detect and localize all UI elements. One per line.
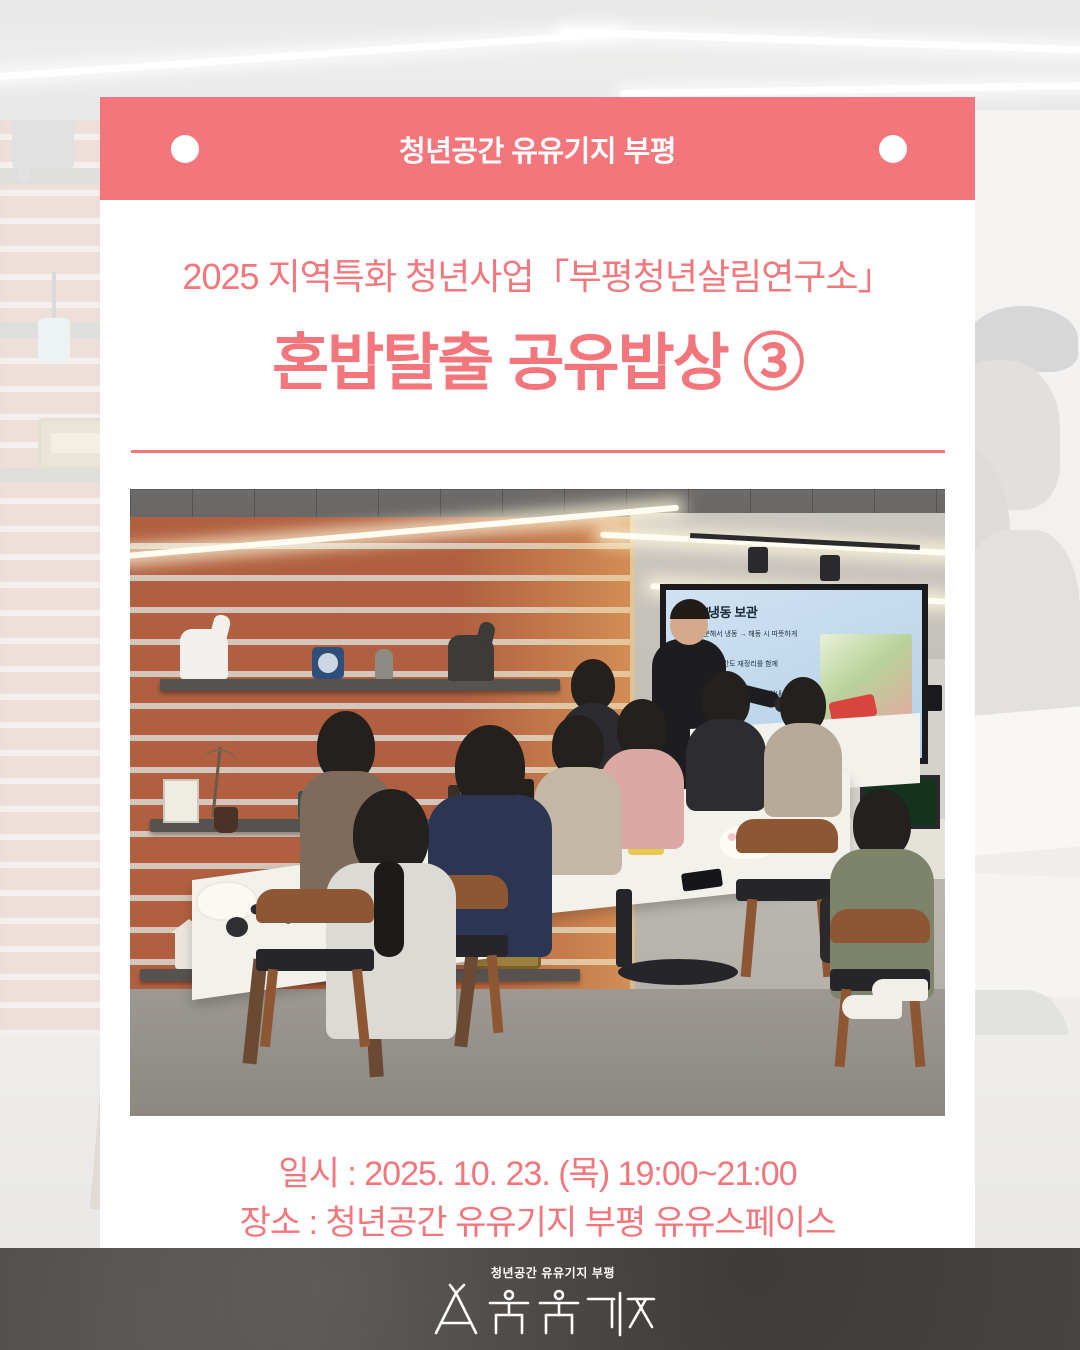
header-dot-left-icon	[171, 135, 199, 163]
program-subtitle: 2025 지역특화 청년사업「부평청년살림연구소」	[100, 248, 975, 300]
header-bar: 청년공간 유유기지 부평	[100, 97, 975, 200]
photo-white-horse-figurine	[180, 629, 228, 679]
footer-logo: 청년공간 유유기지 부평	[0, 1264, 1080, 1344]
photo-participant-hair	[374, 861, 404, 957]
photo-mixing-bowl	[196, 881, 258, 921]
event-info: 일시 : 2025. 10. 23. (목) 19:00~21:00 장소 : …	[100, 1150, 975, 1249]
poster-card: 청년공간 유유기지 부평 2025 지역특화 청년사업「부평청년살림연구소」 혼…	[100, 97, 975, 1248]
event-date: 일시 : 2025. 10. 23. (목) 19:00~21:00	[100, 1150, 975, 1199]
program-main-title: 혼밥탈출 공유밥상 ③	[100, 312, 975, 402]
photo-clock	[312, 647, 344, 679]
photo-chair-back	[256, 889, 374, 923]
footer-logo-label: 청년공간 유유기지 부평	[26, 1264, 1080, 1281]
photo-chair	[256, 889, 374, 1049]
header-dot-right-icon	[879, 135, 907, 163]
photo-chair-seat	[256, 949, 374, 971]
photo-trophy	[375, 649, 393, 679]
photo-chair-leg	[352, 969, 370, 1048]
photo-chair-leg	[487, 955, 504, 1034]
title-block: 2025 지역특화 청년사업「부평청년살림연구소」 혼밥탈출 공유밥상 ③	[100, 200, 975, 402]
photo-ladle	[226, 917, 248, 937]
event-photo: 유유기지 부평 3. 밥/냉동 보관 밥은 소분해서 냉동 → 해동 시 따뜻하…	[130, 489, 945, 1116]
photo-table-post	[616, 889, 632, 967]
footer-band: 청년공간 유유기지 부평	[0, 1248, 1080, 1350]
photo-track-light	[748, 547, 768, 573]
photo-participant	[686, 671, 766, 811]
photo-chair-back	[736, 819, 838, 853]
header-title: 청년공간 유유기지 부평	[399, 128, 676, 170]
event-place: 장소 : 청년공간 유유기지 부평 유유스페이스	[100, 1199, 975, 1248]
photo-track-light	[820, 555, 840, 581]
photo-chair-leg	[260, 969, 278, 1048]
photo-chair-back	[830, 909, 930, 943]
yuyugiji-logo-icon	[424, 1283, 656, 1344]
photo-vase	[214, 807, 238, 833]
photo-participant-body	[686, 719, 766, 811]
photo-small-frame	[163, 779, 199, 823]
photo-shoe	[872, 979, 928, 1001]
divider-line	[131, 450, 945, 453]
photo-dark-horse-figurine	[448, 635, 494, 681]
photo-shelf-top	[160, 679, 560, 691]
photo-table-base	[618, 959, 738, 985]
